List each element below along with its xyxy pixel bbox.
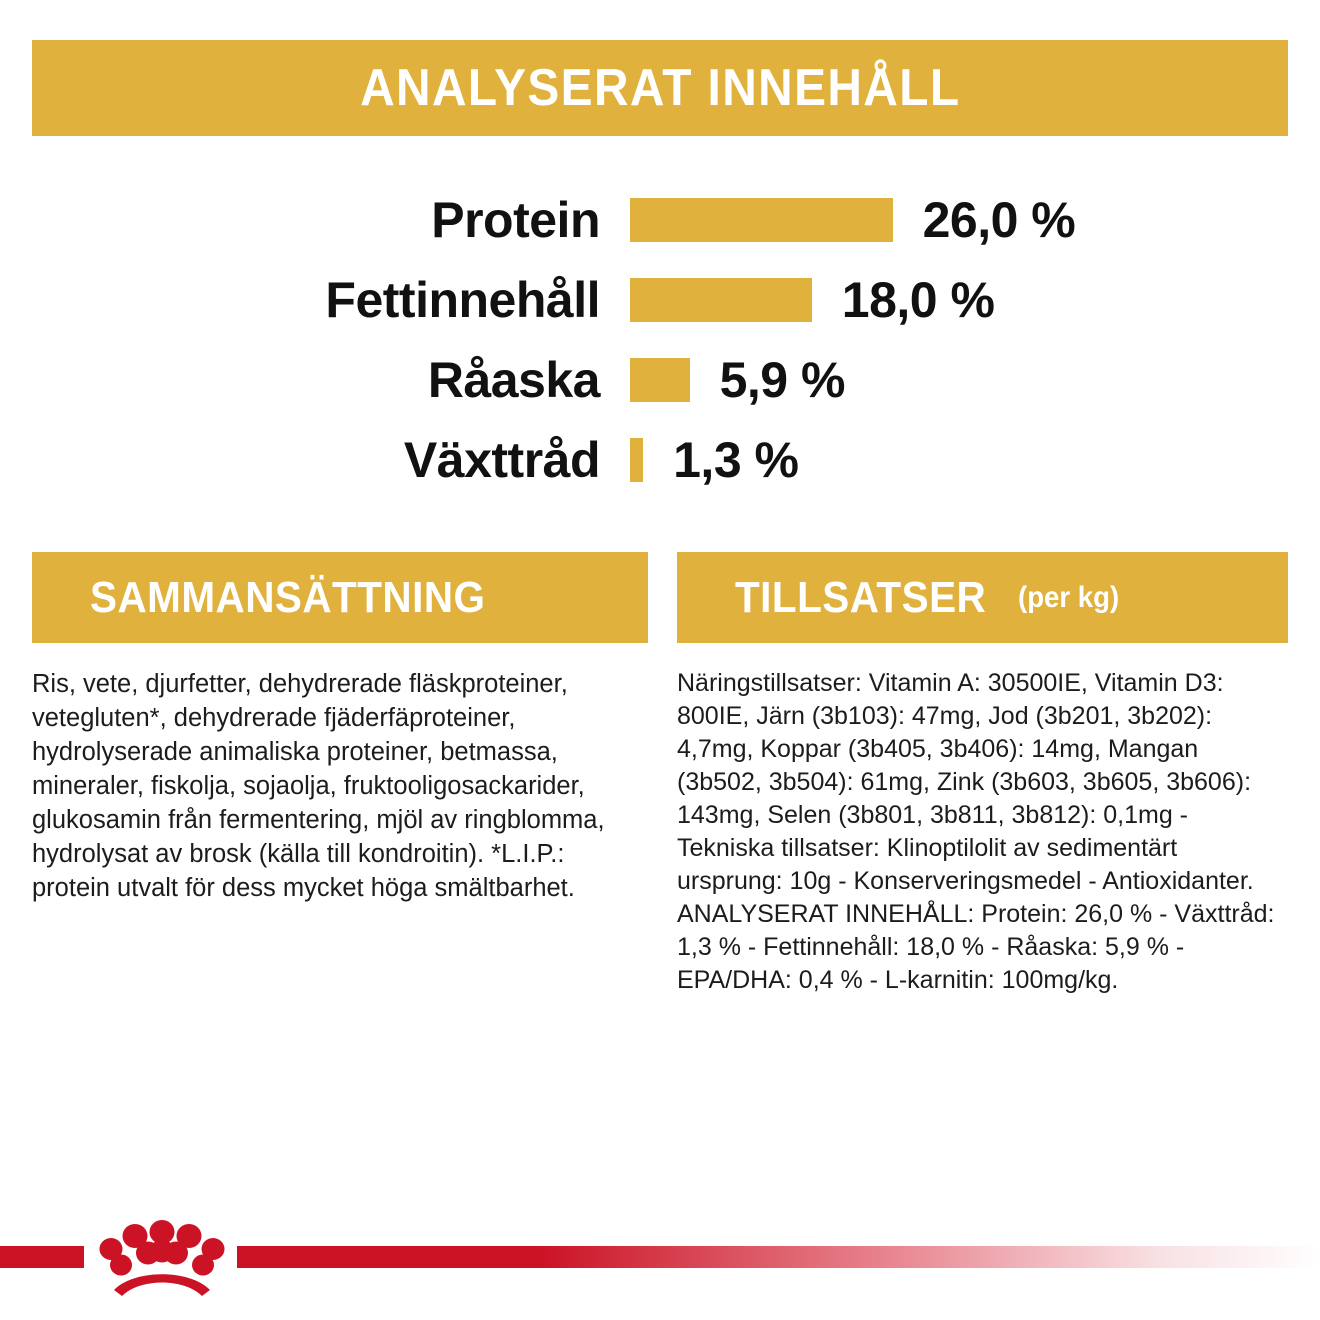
footer-rule-right	[237, 1246, 1320, 1268]
royal-canin-crown-logo	[92, 1220, 232, 1302]
footer	[0, 1228, 1320, 1288]
chart-value-label: 18,0 %	[842, 271, 995, 329]
chart-category-label: Protein	[0, 191, 630, 249]
chart-category-label: Växttråd	[0, 431, 630, 489]
chart-row: Protein26,0 %	[0, 180, 1320, 260]
composition-section: SAMMANSÄTTNING Ris, vete, djurfetter, de…	[32, 552, 648, 905]
chart-value-label: 5,9 %	[720, 351, 845, 409]
footer-rule-left	[0, 1246, 84, 1268]
chart-bar	[630, 438, 643, 482]
chart-bar	[630, 278, 812, 322]
composition-banner: SAMMANSÄTTNING	[32, 552, 648, 643]
chart-value-label: 26,0 %	[923, 191, 1076, 249]
additives-title: TILLSATSER	[735, 573, 986, 623]
composition-text: Ris, vete, djurfetter, dehydrerade fläsk…	[32, 667, 648, 905]
analysed-content-banner: ANALYSERAT INNEHÅLL	[32, 40, 1288, 136]
chart-row: Råaska5,9 %	[0, 340, 1320, 420]
chart-category-label: Råaska	[0, 351, 630, 409]
chart-value-label: 1,3 %	[673, 431, 798, 489]
chart-row: Fettinnehåll18,0 %	[0, 260, 1320, 340]
composition-title: SAMMANSÄTTNING	[90, 573, 485, 623]
page-title: ANALYSERAT INNEHÅLL	[360, 58, 960, 118]
chart-bar-wrap: 5,9 %	[630, 351, 1320, 409]
chart-category-label: Fettinnehåll	[0, 271, 630, 329]
chart-bar-wrap: 1,3 %	[630, 431, 1320, 489]
additives-banner: TILLSATSER (per kg)	[677, 552, 1288, 643]
chart-bar-wrap: 18,0 %	[630, 271, 1320, 329]
chart-bar	[630, 358, 690, 402]
additives-subtitle: (per kg)	[1018, 581, 1119, 615]
chart-bar-wrap: 26,0 %	[630, 191, 1320, 249]
additives-text: Näringstillsatser: Vitamin A: 30500IE, V…	[677, 667, 1288, 997]
chart-row: Växttråd1,3 %	[0, 420, 1320, 500]
additives-section: TILLSATSER (per kg) Näringstillsatser: V…	[677, 552, 1288, 997]
analysed-content-chart: Protein26,0 %Fettinnehåll18,0 %Råaska5,9…	[0, 180, 1320, 500]
chart-bar	[630, 198, 893, 242]
